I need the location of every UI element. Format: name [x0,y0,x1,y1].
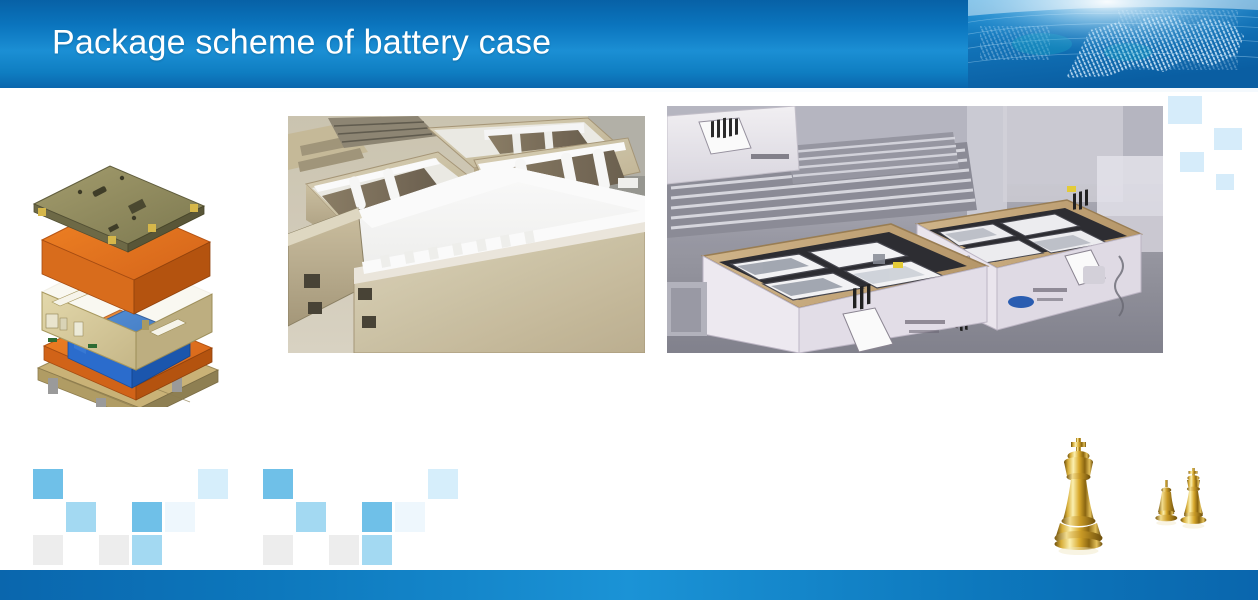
decor-square [33,535,63,565]
decor-square [33,469,63,499]
decor-square [1180,152,1204,172]
decor-square [198,469,228,499]
gold-chess-king-and-pawns-icon [1030,420,1240,560]
header-underline [0,88,1258,92]
world-map-halftone-globe-icon [968,0,1258,88]
decor-square [1214,128,1242,150]
decor-square [362,535,392,565]
decor-square [395,502,425,532]
slide-root: Package scheme of battery case [0,0,1258,600]
decor-square [165,502,195,532]
decor-square [296,502,326,532]
slide-footer-bar [0,570,1258,600]
page-title: Package scheme of battery case [52,24,551,63]
decor-square [263,469,293,499]
bottom-decor-checker-pattern [0,462,560,552]
decor-square [66,502,96,532]
decor-square [428,469,458,499]
top-right-decor-squares [1158,92,1258,202]
wooden-crates-with-foam-inserts-photo [288,116,645,353]
decor-square [1216,174,1234,190]
decor-square [1168,96,1202,124]
exploded-package-cad-diagram [22,132,232,407]
decor-square [329,535,359,565]
decor-square [362,502,392,532]
decor-square [132,535,162,565]
slide-header: Package scheme of battery case [0,0,1258,88]
decor-square [132,502,162,532]
chess-pawn-pair [1155,468,1206,529]
chess-king [1055,438,1103,555]
cardboard-boxes-on-conveyor-photo [667,106,1163,353]
decor-square [99,535,129,565]
decor-square [263,535,293,565]
